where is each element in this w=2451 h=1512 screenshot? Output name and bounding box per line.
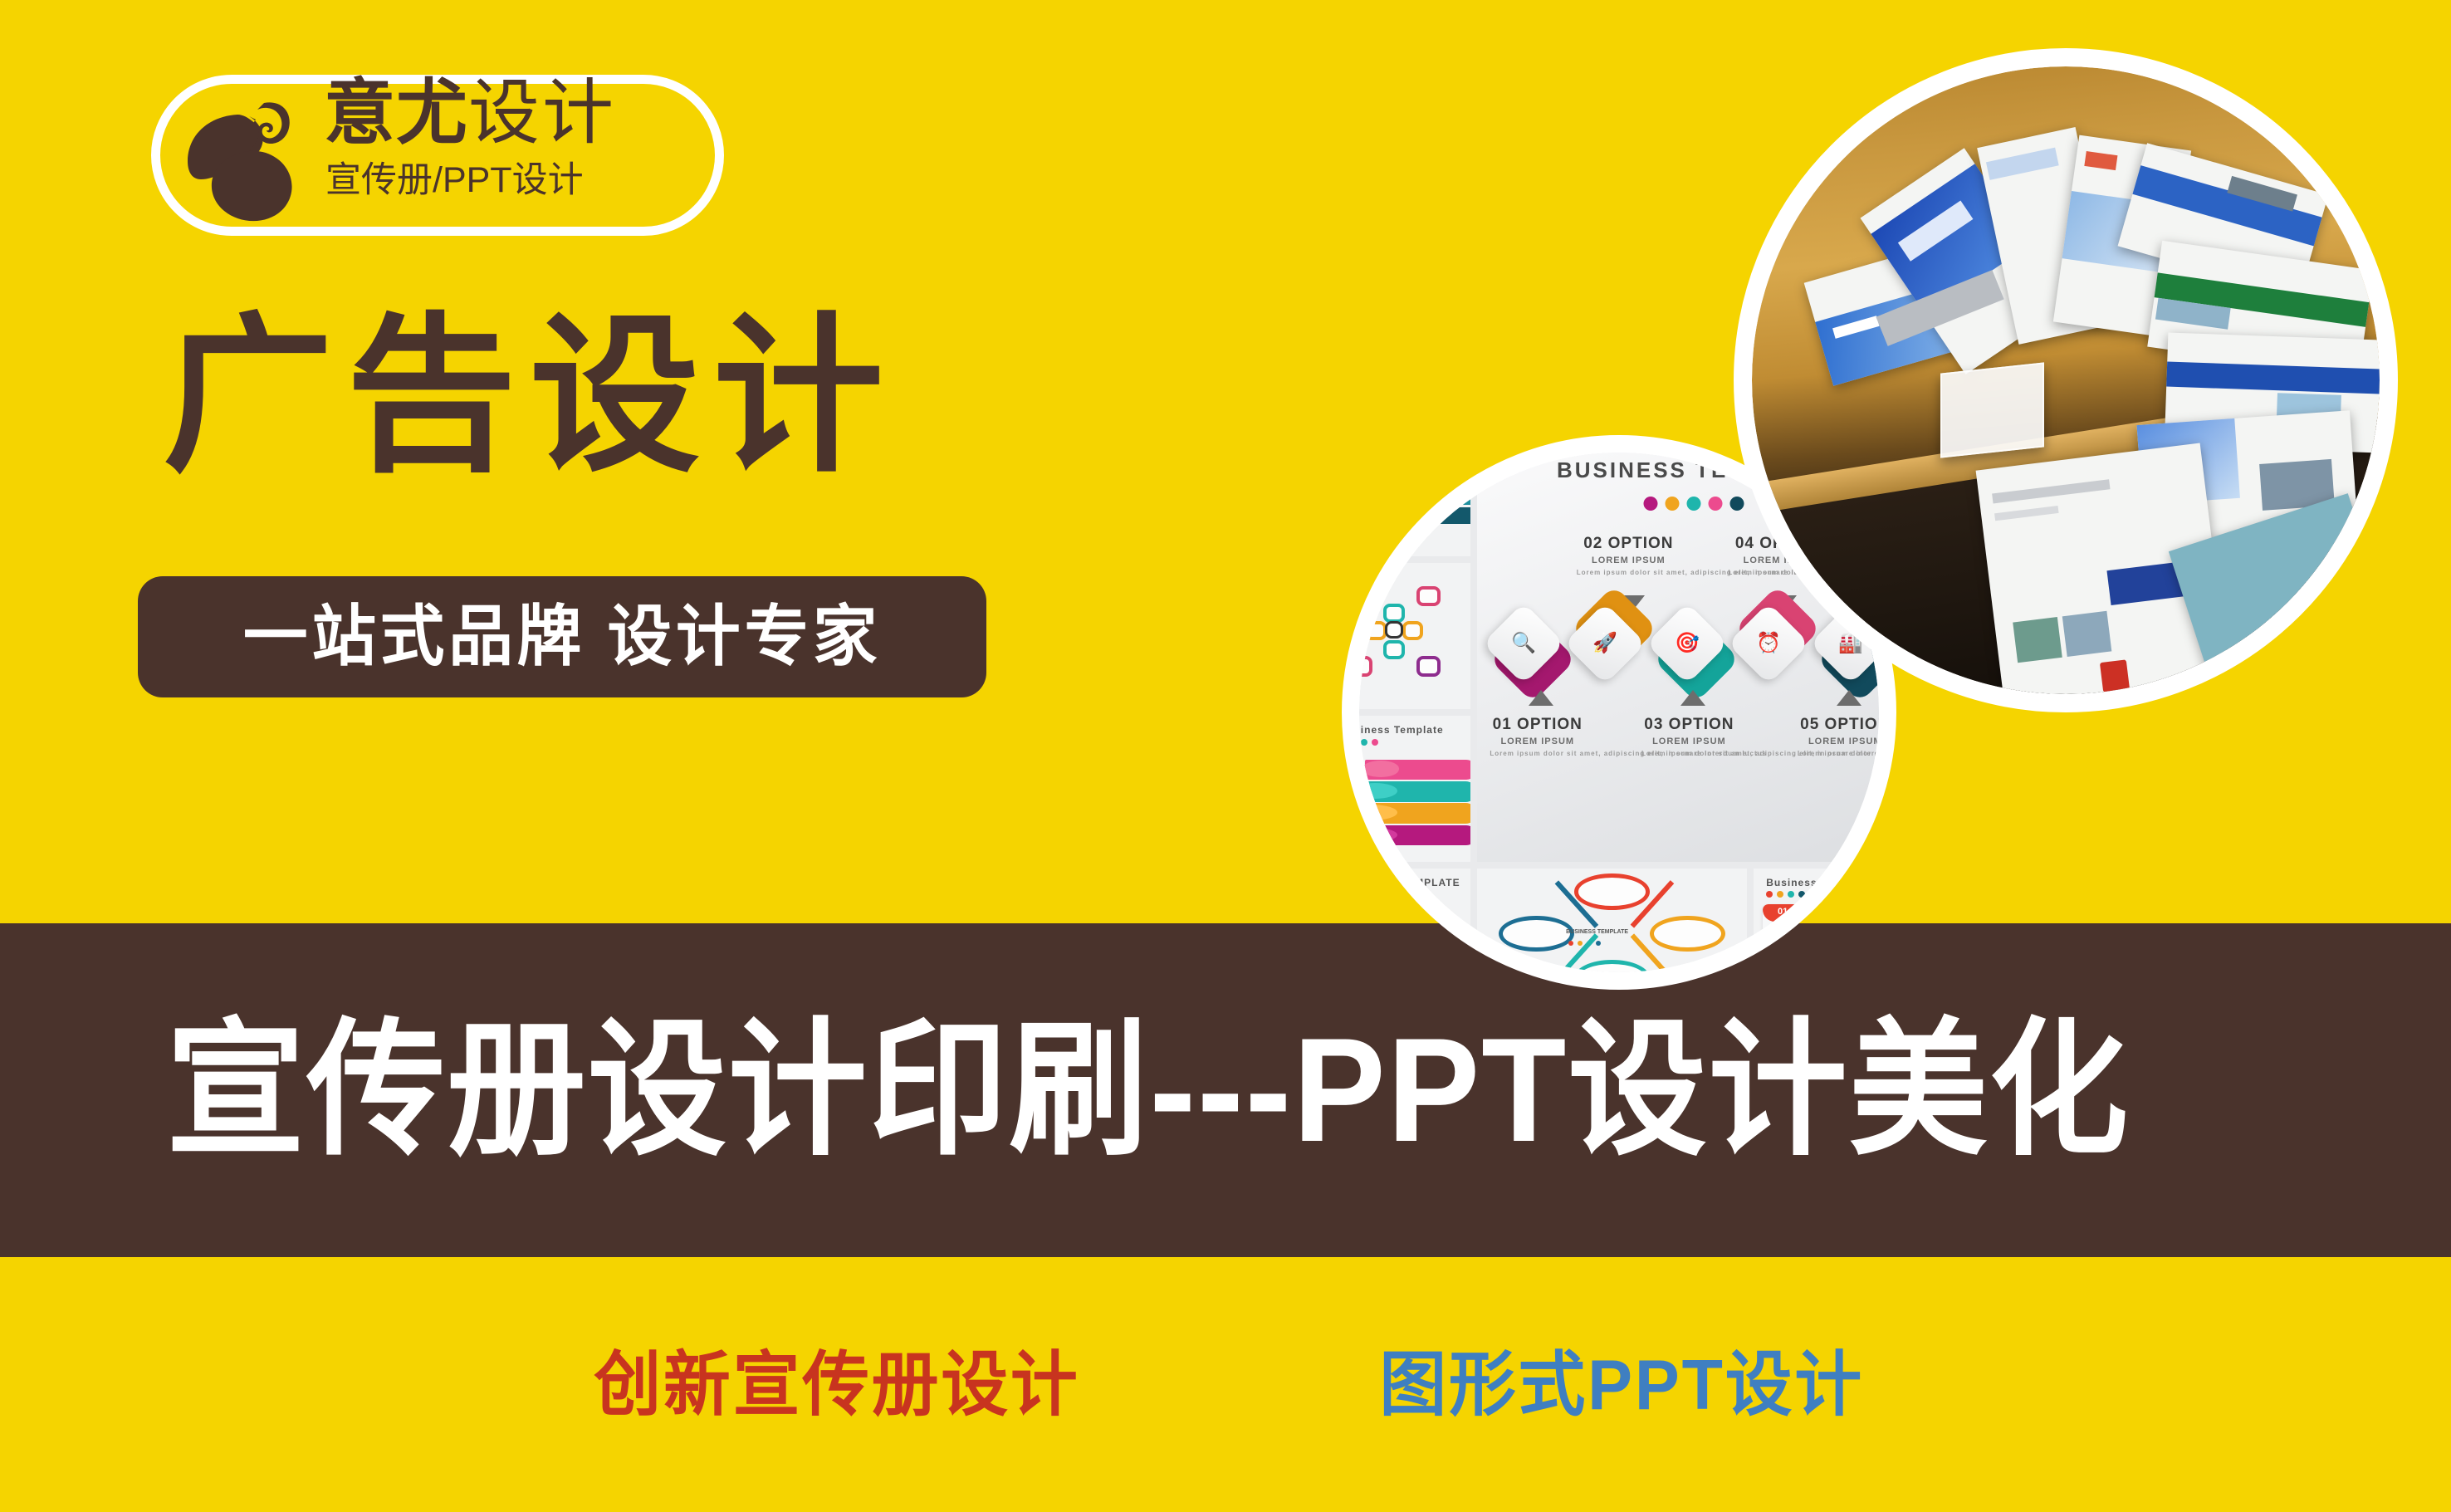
brochure-photo xyxy=(1752,66,2380,694)
business-card-holder xyxy=(1940,362,2044,458)
brochure-photo-circle xyxy=(1734,48,2398,712)
brown-headline-band xyxy=(0,923,2451,1257)
option-diamond-02: 🚀 xyxy=(1576,621,1647,692)
thumb-option-label: 04 OPTION xyxy=(1393,910,1441,920)
option-label-05: 05 OPTION LOREM IPSUM Lorem ipsum dolor … xyxy=(1798,716,1879,758)
bird-leaf-logo-mark xyxy=(166,80,316,229)
thumb-map-option-slide: BUSINESS TEMPLATE 04 OPTION xyxy=(1359,869,1470,972)
thumb-title: Business Template xyxy=(1766,877,1870,888)
step-card-01: 01 STEP xyxy=(1763,904,1828,949)
option-diamond-03: 🎯 xyxy=(1658,621,1729,692)
logo-subtitle: 宣传册/PPT设计 xyxy=(325,159,584,201)
step-card-02: 02 STEP xyxy=(1835,904,1879,949)
step-card-04: 04 STEP xyxy=(1835,955,1879,973)
option-label-01: 01 OPTION LOREM IPSUM Lorem ipsum dolor … xyxy=(1490,716,1585,758)
step-card-03: 03 STEP xyxy=(1763,955,1828,973)
logo-text-group: 意尤设计 宣传册/PPT设计 xyxy=(324,73,722,231)
tagline-label: 一站式品牌 设计专家 xyxy=(243,599,881,674)
feature-label-ppt: 图形式PPT设计 xyxy=(1379,1346,1864,1426)
feature-row: 创新宣传册设计 图形式PPT设计 xyxy=(0,1274,2451,1498)
arrow-up-icon-03 xyxy=(1680,690,1705,706)
thumb-circle-cycle-slide: BUSINESS TEMPLATE xyxy=(1477,869,1747,972)
logo-brand-heavy: 意尤 xyxy=(324,73,468,153)
thumb-cross-node-slide xyxy=(1359,563,1470,709)
option-diamond-01: 🔍 xyxy=(1495,621,1566,692)
slide-dot-row xyxy=(1643,497,1744,511)
thumb-title: BUSINESS TEMPLATE xyxy=(1566,929,1628,935)
option-label-02: 02 OPTION LOREM IPSUM Lorem ipsum dolor … xyxy=(1577,535,1680,577)
page-title: 广告设计 xyxy=(163,306,897,488)
advertising-banner: 意尤设计 宣传册/PPT设计 广告设计 一站式品牌 设计专家 🏠 ◉ xyxy=(0,0,2451,1512)
thumb-ribbon-banner-slide: 🏠 ◉ xyxy=(1359,453,1470,556)
thumb-step-cards-slide: Business Template 01 STEP 02 STE xyxy=(1754,869,1879,972)
thumb-title: BUSINESS TEMPLATE xyxy=(1359,877,1460,888)
option-label-03: 03 OPTION LOREM IPSUM Lorem ipsum dolor … xyxy=(1641,716,1737,758)
tagline-badge: 一站式品牌 设计专家 xyxy=(138,576,986,697)
thumb-title: Business Template xyxy=(1359,724,1444,736)
thumb-cone-funnel-slide: Business Template xyxy=(1359,716,1470,862)
logo-brand-name: 意尤设计 xyxy=(324,73,616,153)
logo-brand-light: 设计 xyxy=(468,73,616,153)
feature-label-brochure: 创新宣传册设计 xyxy=(594,1346,1079,1426)
arrow-up-icon-01 xyxy=(1529,690,1553,706)
